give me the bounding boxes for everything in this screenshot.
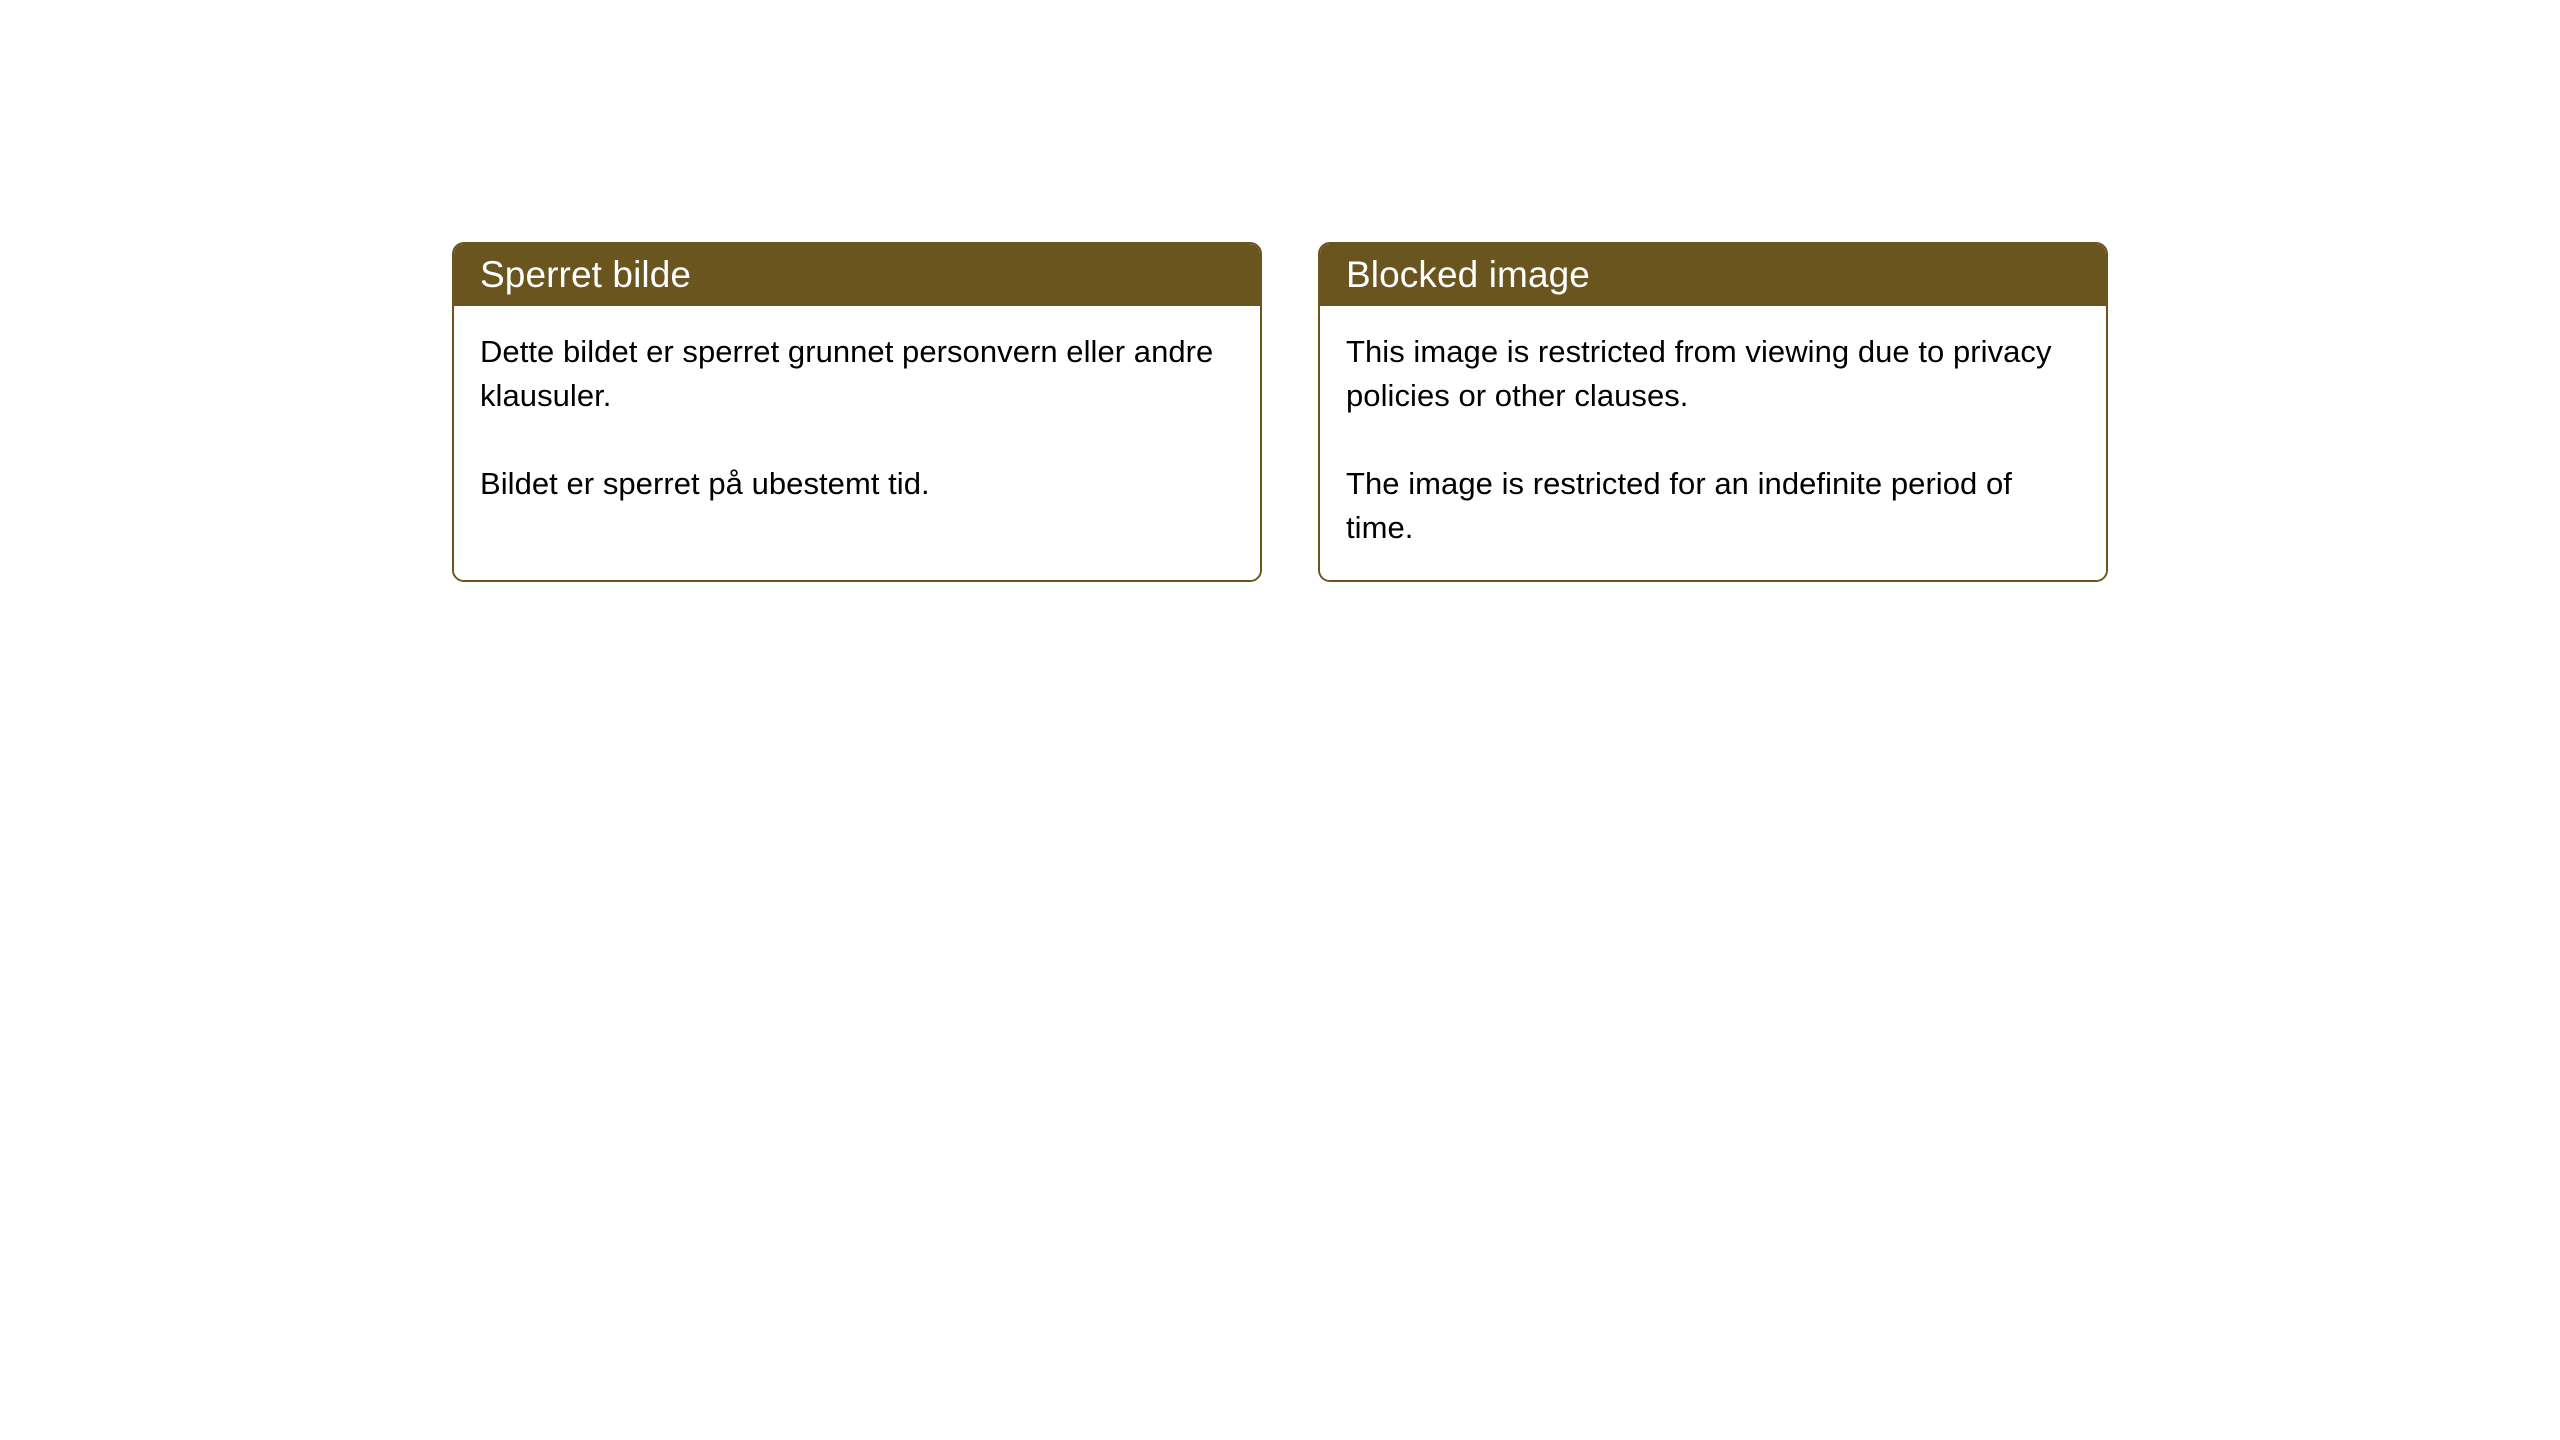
card-body-norwegian: Dette bildet er sperret grunnet personve… (454, 306, 1260, 580)
card-body-english: This image is restricted from viewing du… (1320, 306, 2106, 580)
card-paragraph: This image is restricted from viewing du… (1346, 330, 2080, 418)
blocked-image-notice-group: Sperret bilde Dette bildet er sperret gr… (452, 242, 2108, 582)
card-title-english: Blocked image (1320, 244, 2106, 306)
blocked-image-card-english: Blocked image This image is restricted f… (1318, 242, 2108, 582)
card-paragraph: Bildet er sperret på ubestemt tid. (480, 462, 1234, 506)
card-title-norwegian: Sperret bilde (454, 244, 1260, 306)
page-root: Sperret bilde Dette bildet er sperret gr… (0, 0, 2560, 1440)
card-paragraph: The image is restricted for an indefinit… (1346, 462, 2080, 550)
card-paragraph: Dette bildet er sperret grunnet personve… (480, 330, 1234, 418)
blocked-image-card-norwegian: Sperret bilde Dette bildet er sperret gr… (452, 242, 1262, 582)
